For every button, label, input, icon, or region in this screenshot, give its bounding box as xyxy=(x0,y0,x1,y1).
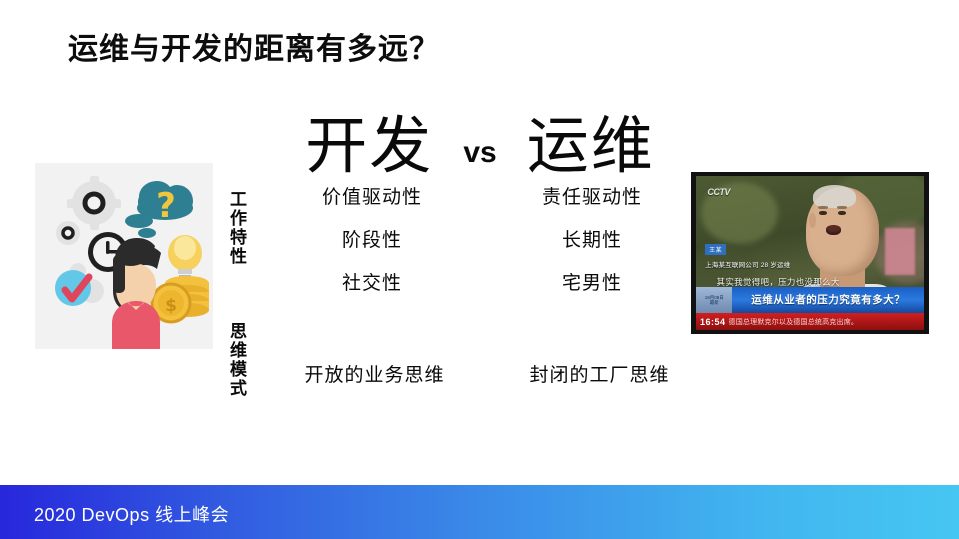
footer-event-name: 2020 DevOps 线上峰会 xyxy=(34,501,229,527)
attribute-item: 阶段性 xyxy=(342,231,402,274)
news-headline-badge: 18月08日 最新 xyxy=(696,287,732,313)
mindset-dev: 开放的业务思维 xyxy=(262,360,487,387)
interviewee-nametag: 王某 上海某互联网公司 28 岁运维 xyxy=(705,239,790,269)
page-title: 运维与开发的距离有多远？ xyxy=(68,24,440,68)
comparison-heading-row: 开发 vs 运维 xyxy=(270,100,690,178)
attribute-columns: 价值驱动性 阶段性 社交性 责任驱动性 长期性 宅男性 xyxy=(262,188,702,317)
thinking-person-illustration: ? xyxy=(35,163,213,349)
checkmark-icon xyxy=(55,270,91,306)
hair xyxy=(813,185,856,208)
mouth xyxy=(826,225,841,235)
heading-dev: 开发 xyxy=(305,116,433,178)
category-label-mindset: 思维模式 xyxy=(224,322,247,398)
news-clip-frame: CCTV 王某 上海某互联网公司 28 岁运维 其实我觉得吧，压力也没那么大 1… xyxy=(696,176,924,330)
attribute-item: 责任驱动性 xyxy=(542,188,642,231)
attribute-item: 价值驱动性 xyxy=(322,188,422,231)
badge-line-2: 最新 xyxy=(710,300,719,305)
nametag-description: 上海某互联网公司 28 岁运维 xyxy=(705,259,790,269)
footer-bar: 2020 DevOps 线上峰会 xyxy=(0,485,959,539)
heading-vs: vs xyxy=(463,136,496,170)
ticker-clock: 16:54 xyxy=(696,317,729,327)
news-clip-image: CCTV 王某 上海某互联网公司 28 岁运维 其实我觉得吧，压力也没那么大 1… xyxy=(691,172,929,334)
ear xyxy=(809,213,816,227)
person-icon xyxy=(112,238,161,349)
category-label-work-traits: 工作特性 xyxy=(224,190,247,266)
attribute-item: 宅男性 xyxy=(562,274,622,317)
svg-text:$: $ xyxy=(165,296,177,316)
nametag-name: 王某 xyxy=(705,244,726,255)
eye xyxy=(819,211,827,215)
attribute-column-dev: 价值驱动性 阶段性 社交性 xyxy=(262,188,482,317)
eyebrow xyxy=(818,206,828,209)
news-headline-text: 运维从业者的压力究竟有多大？ xyxy=(732,292,924,307)
head xyxy=(806,187,879,276)
attribute-column-ops: 责任驱动性 长期性 宅男性 xyxy=(482,188,702,317)
eyebrow xyxy=(837,206,847,209)
heading-ops: 运维 xyxy=(527,116,655,178)
attribute-item: 长期性 xyxy=(562,231,622,274)
mindset-row: 开放的业务思维 封闭的工厂思维 xyxy=(262,360,712,387)
svg-text:?: ? xyxy=(156,186,176,226)
news-headline-bar: 18月08日 最新 运维从业者的压力究竟有多大？ xyxy=(696,287,924,313)
ticker-scroll-text: 德国总理默克尔以及德国总统高克出席。 xyxy=(729,317,924,327)
eye xyxy=(838,211,846,215)
news-ticker-bar: 16:54 德国总理默克尔以及德国总统高克出席。 xyxy=(696,313,924,330)
cctv-logo: CCTV xyxy=(707,187,730,197)
attribute-item: 社交性 xyxy=(342,274,402,317)
mindset-ops: 封闭的工厂思维 xyxy=(487,360,712,387)
